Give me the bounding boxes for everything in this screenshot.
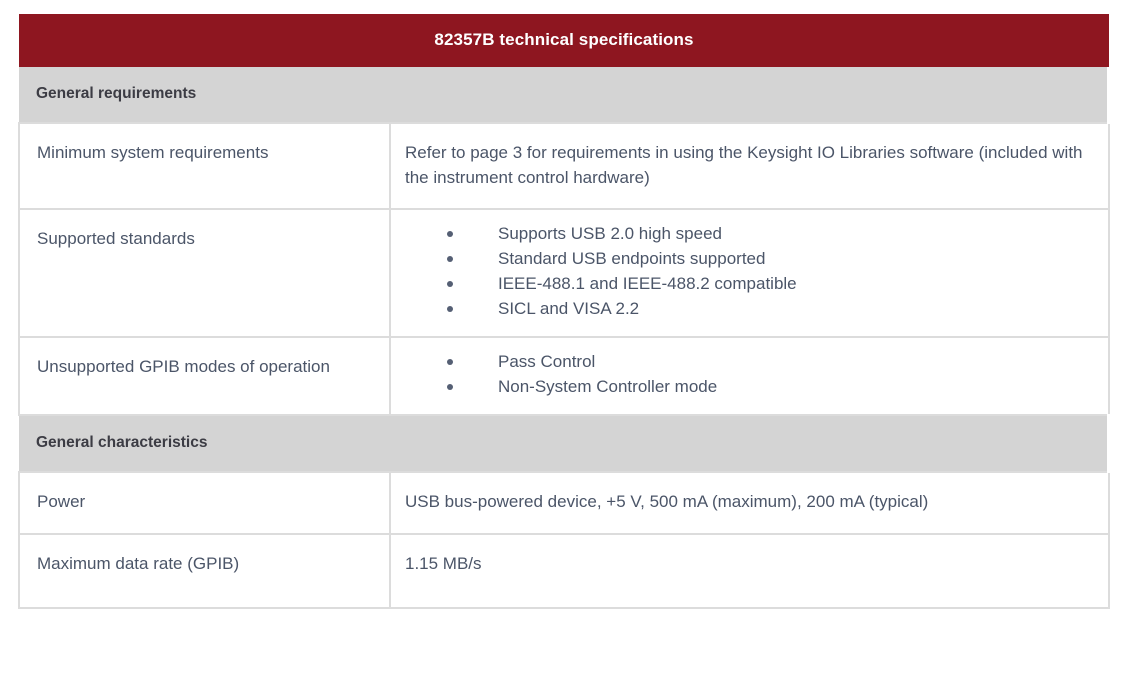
table-row: Supported standards Supports USB 2.0 hig… <box>19 209 1109 337</box>
table-row: Minimum system requirements Refer to pag… <box>19 123 1109 209</box>
list-item-label: IEEE-488.1 and IEEE-488.2 compatible <box>498 274 797 293</box>
list-item-label: Supports USB 2.0 high speed <box>498 224 722 243</box>
list-item-label: Non-System Controller mode <box>498 377 717 396</box>
row-value: 1.15 MB/s <box>390 534 1109 608</box>
row-label: Supported standards <box>19 209 390 337</box>
list-item-label: Pass Control <box>498 352 595 371</box>
row-value: Supports USB 2.0 high speed Standard USB… <box>390 209 1109 337</box>
list-item: SICL and VISA 2.2 <box>405 297 1094 322</box>
bullet-dot-icon <box>447 256 453 262</box>
list-item-label: SICL and VISA 2.2 <box>498 299 639 318</box>
table-title-row: 82357B technical specifications <box>19 14 1109 67</box>
section-heading: General characteristics <box>19 415 1109 472</box>
row-label: Power <box>19 472 390 534</box>
row-value: Pass Control Non-System Controller mode <box>390 337 1109 415</box>
bullet-dot-icon <box>447 384 453 390</box>
list-item: IEEE-488.1 and IEEE-488.2 compatible <box>405 272 1094 297</box>
list-item: Standard USB endpoints supported <box>405 247 1094 272</box>
bullet-list: Pass Control Non-System Controller mode <box>405 350 1094 400</box>
table-row: Power USB bus-powered device, +5 V, 500 … <box>19 472 1109 534</box>
specifications-table: 82357B technical specifications General … <box>18 14 1112 609</box>
list-item: Non-System Controller mode <box>405 375 1094 400</box>
list-item: Supports USB 2.0 high speed <box>405 222 1094 247</box>
row-label: Maximum data rate (GPIB) <box>19 534 390 608</box>
row-label: Minimum system requirements <box>19 123 390 209</box>
bullet-dot-icon <box>447 306 453 312</box>
table-row: Unsupported GPIB modes of operation Pass… <box>19 337 1109 415</box>
section-heading: General requirements <box>19 67 1109 123</box>
bullet-dot-icon <box>447 231 453 237</box>
section-header-general-requirements: General requirements <box>19 67 1109 123</box>
table-row: Maximum data rate (GPIB) 1.15 MB/s <box>19 534 1109 608</box>
row-label: Unsupported GPIB modes of operation <box>19 337 390 415</box>
table-title: 82357B technical specifications <box>19 14 1109 67</box>
bullet-dot-icon <box>447 281 453 287</box>
bullet-list: Supports USB 2.0 high speed Standard USB… <box>405 222 1094 322</box>
list-item: Pass Control <box>405 350 1094 375</box>
row-value: USB bus-powered device, +5 V, 500 mA (ma… <box>390 472 1109 534</box>
bullet-dot-icon <box>447 359 453 365</box>
section-header-general-characteristics: General characteristics <box>19 415 1109 472</box>
list-item-label: Standard USB endpoints supported <box>498 249 765 268</box>
row-value: Refer to page 3 for requirements in usin… <box>390 123 1109 209</box>
